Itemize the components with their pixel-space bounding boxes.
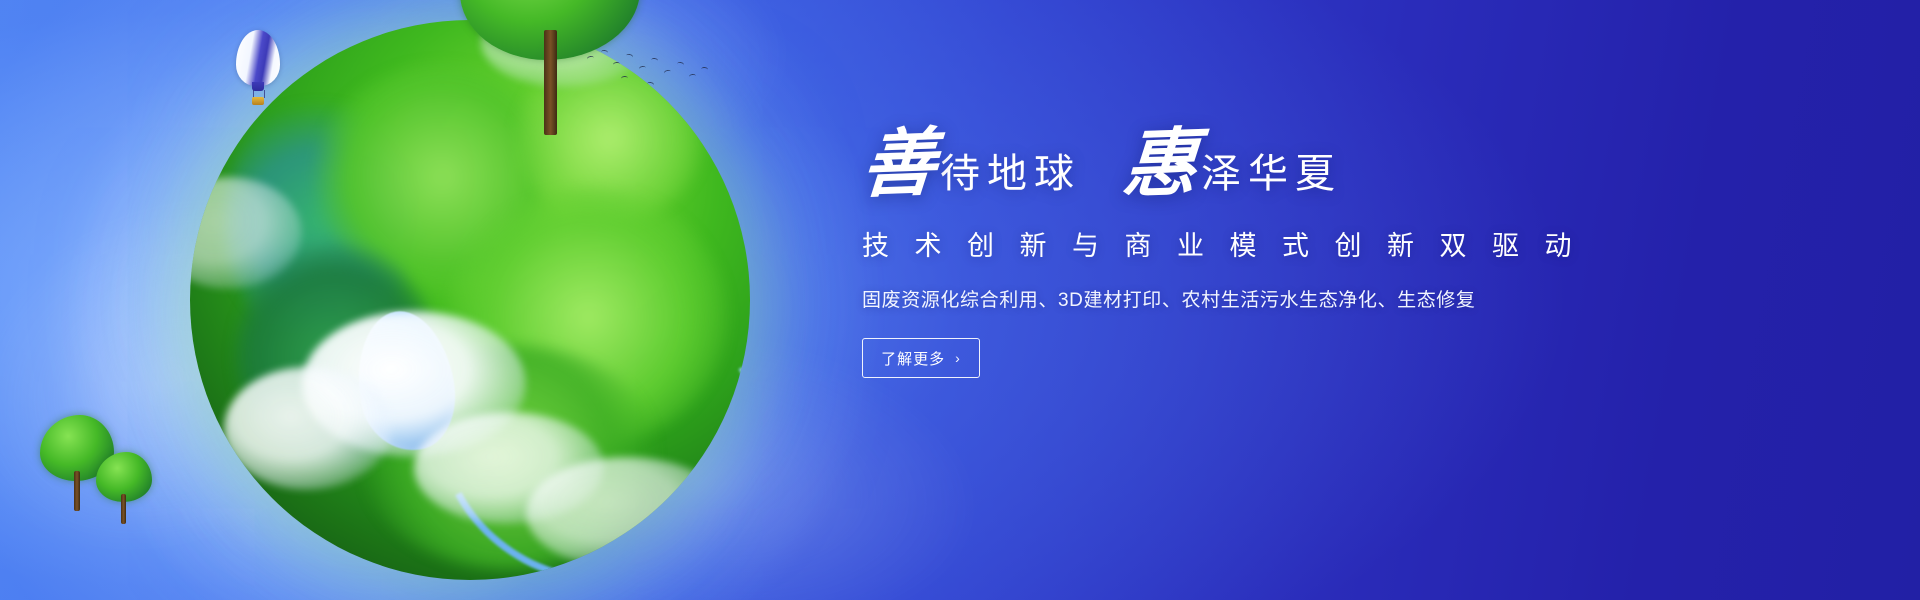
headline-plain-1: 待地球	[940, 154, 1081, 202]
globe-artwork	[130, 0, 830, 600]
hero-subtitle: 技 术 创 新 与 商 业 模 式 创 新 双 驱 动	[862, 224, 1622, 263]
learn-more-button[interactable]: 了解更多 ›	[862, 338, 980, 378]
tree-trunk	[544, 30, 557, 135]
learn-more-label: 了解更多	[881, 348, 945, 369]
hero-copy-block: 善 待地球 惠 泽华夏 技 术 创 新 与 商 业 模 式 创 新 双 驱 动 …	[862, 128, 1622, 378]
birds-flock-icon	[585, 48, 715, 96]
balloon-envelope	[236, 30, 280, 86]
hero-banner: 善 待地球 惠 泽华夏 技 术 创 新 与 商 业 模 式 创 新 双 驱 动 …	[0, 0, 1920, 600]
hero-headline: 善 待地球 惠 泽华夏	[862, 128, 1622, 202]
cloud-icon	[224, 367, 392, 490]
chevron-right-icon: ›	[955, 350, 961, 366]
tree-trunk	[74, 471, 80, 511]
headline-plain-2: 泽华夏	[1201, 154, 1342, 202]
headline-brush-char-1: 善	[859, 127, 938, 204]
hero-description: 固废资源化综合利用、3D建材打印、农村生活污水生态净化、生态修复	[862, 285, 1622, 312]
hot-air-balloon-icon	[236, 30, 280, 108]
tree-trunk	[121, 494, 126, 524]
cloud-icon	[526, 457, 728, 569]
headline-brush-char-2: 惠	[1120, 127, 1199, 204]
balloon-basket	[252, 97, 264, 105]
tree-icon	[96, 452, 152, 522]
